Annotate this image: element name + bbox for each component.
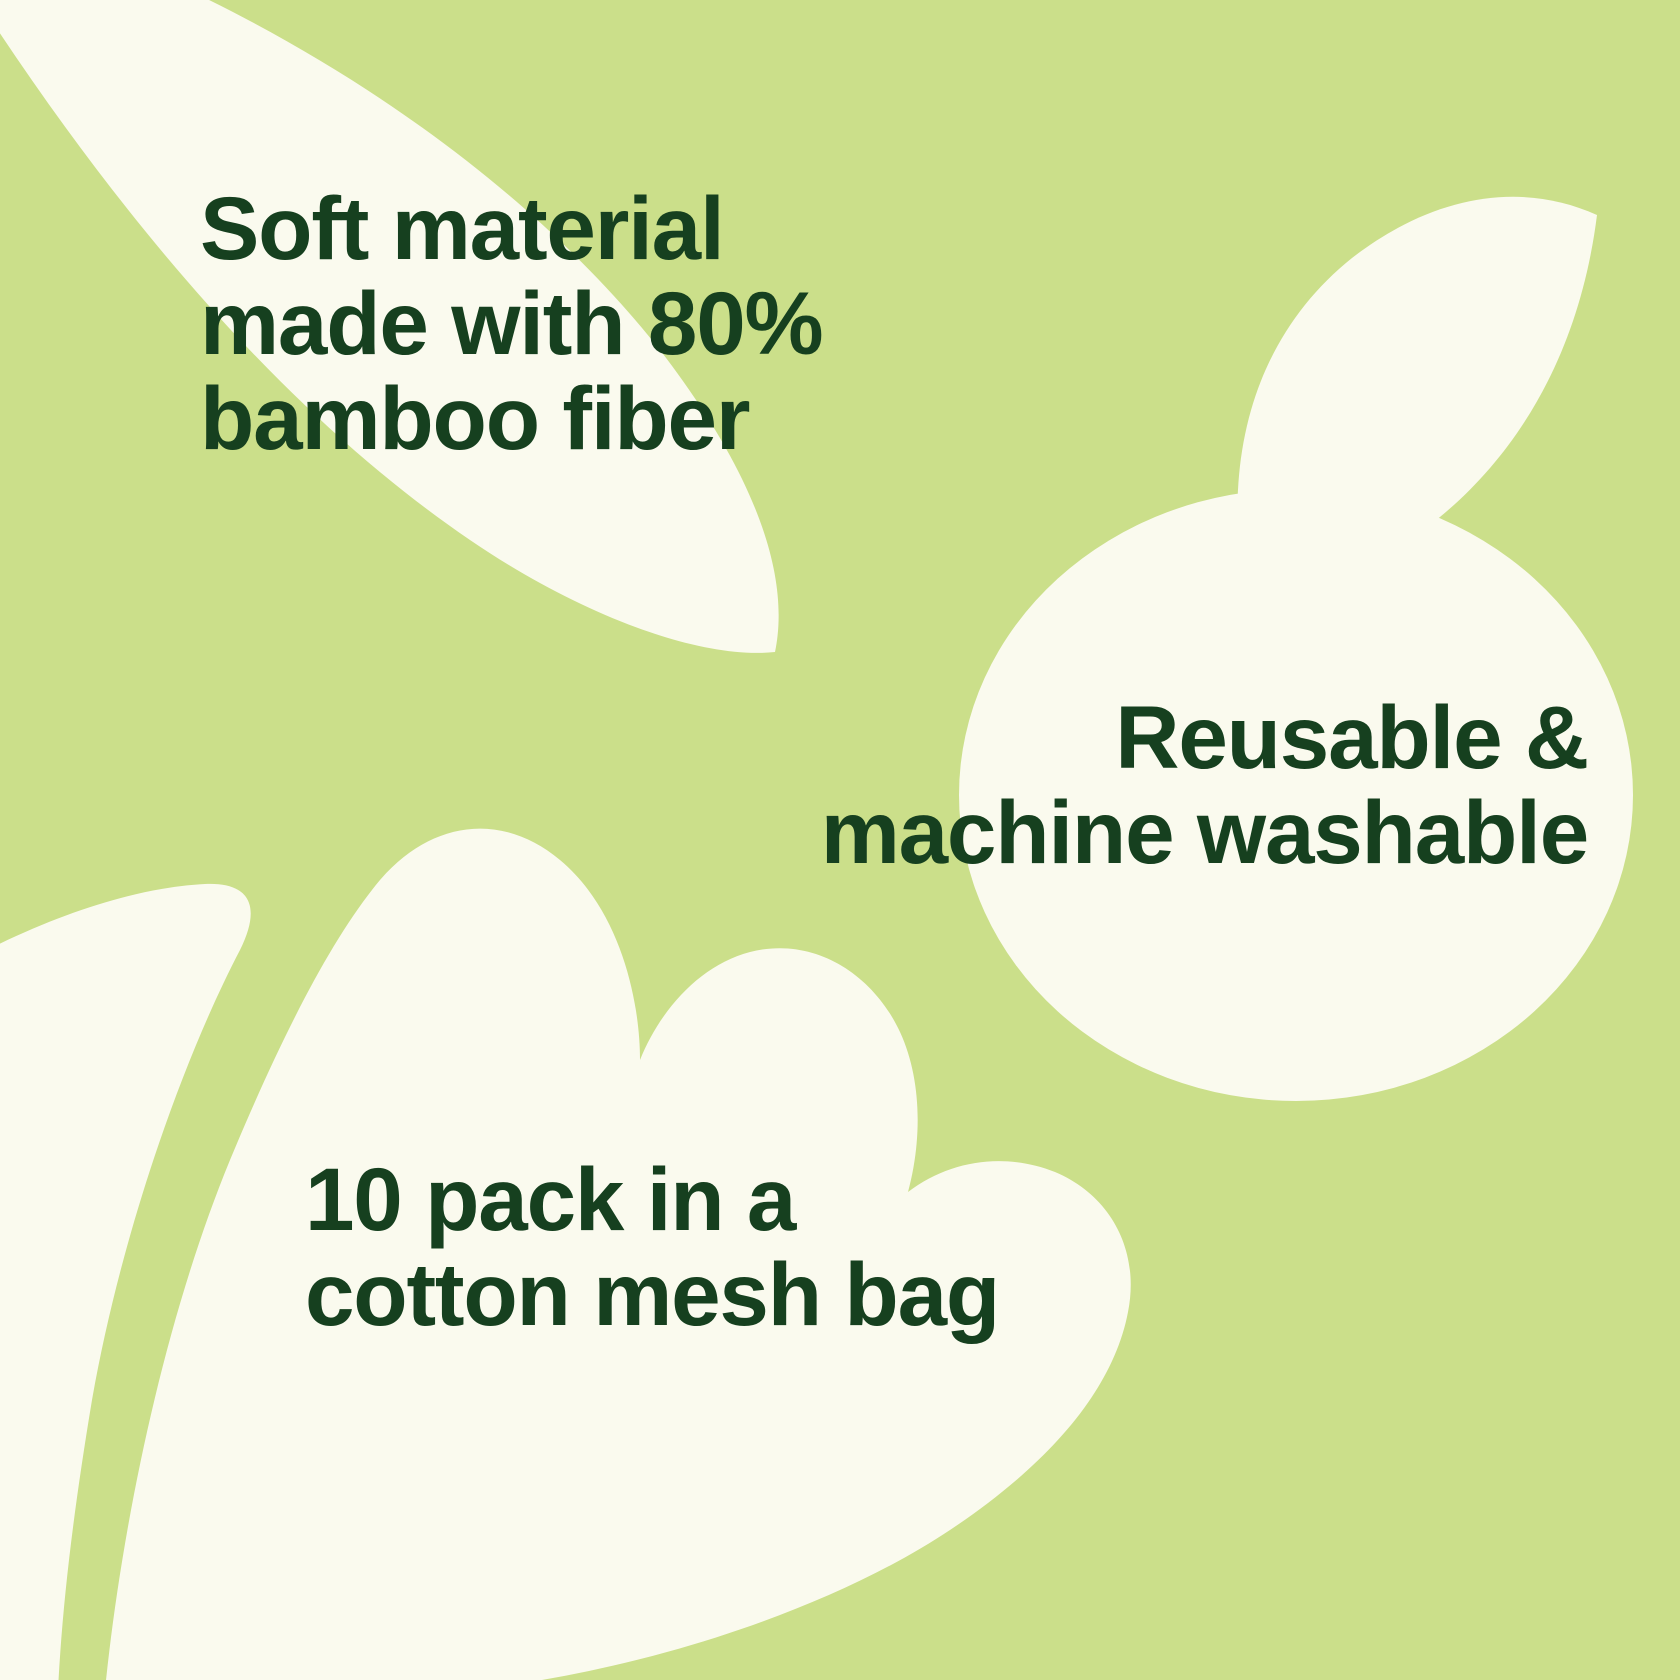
feature-graphic-canvas: Soft material made with 80% bamboo fiber…	[0, 0, 1680, 1680]
apple-body-shape	[959, 489, 1633, 1101]
decorative-artwork	[0, 0, 1680, 1680]
